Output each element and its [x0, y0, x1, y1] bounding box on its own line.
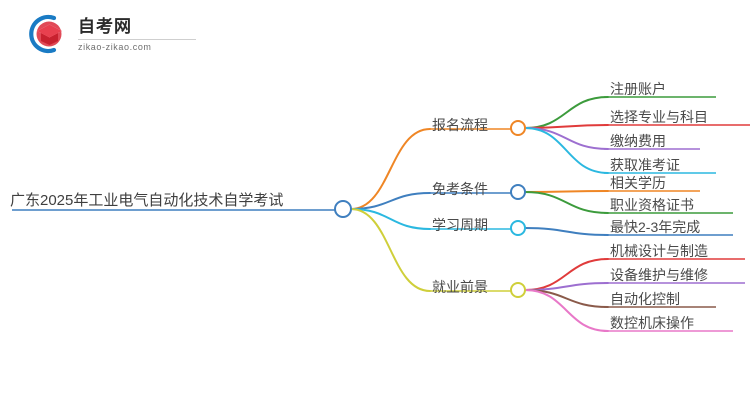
branch-label-0[interactable]: 报名流程	[432, 118, 488, 132]
edge-branch-1-leaf-1	[525, 192, 608, 213]
leaf-label-0-2[interactable]: 缴纳费用	[610, 134, 666, 148]
leaf-label-1-0[interactable]: 相关学历	[610, 176, 666, 190]
leaf-label-0-0[interactable]: 注册账户	[610, 82, 666, 96]
edge-branch-0-leaf-2	[525, 128, 608, 149]
branch-label-1[interactable]: 免考条件	[432, 182, 488, 196]
root-node-label[interactable]: 广东2025年工业电气自动化技术自学考试	[10, 193, 283, 208]
edge-branch-3-leaf-0	[525, 259, 608, 290]
leaf-label-3-2[interactable]: 自动化控制	[610, 292, 680, 306]
branch-node-2	[511, 221, 525, 235]
leaf-label-3-1[interactable]: 设备维护与维修	[610, 268, 708, 282]
leaf-label-3-3[interactable]: 数控机床操作	[610, 316, 694, 330]
edge-branch-3-leaf-2	[525, 290, 608, 307]
edge-branch-0-leaf-3	[525, 128, 608, 173]
branch-node-3	[511, 283, 525, 297]
branch-label-2[interactable]: 学习周期	[432, 218, 488, 232]
edge-branch-3-leaf-1	[525, 283, 608, 290]
branch-node-0	[511, 121, 525, 135]
root-node	[335, 201, 351, 217]
leaf-label-0-3[interactable]: 获取准考证	[610, 158, 680, 172]
edge-root-to-branch-3	[351, 209, 430, 291]
edge-branch-2-leaf-0	[525, 228, 608, 235]
edge-branch-3-leaf-3	[525, 290, 608, 331]
leaf-label-1-1[interactable]: 职业资格证书	[610, 198, 694, 212]
leaf-label-0-1[interactable]: 选择专业与科目	[610, 110, 708, 124]
leaf-label-2-0[interactable]: 最快2-3年完成	[610, 220, 700, 234]
edge-branch-0-leaf-0	[525, 97, 608, 128]
leaf-label-3-0[interactable]: 机械设计与制造	[610, 244, 708, 258]
mindmap-page: 自考网 zikao-zikao.com 广东2025年工业电气自动化技术自学考试…	[0, 0, 750, 410]
branch-label-3[interactable]: 就业前景	[432, 280, 488, 294]
edge-root-to-branch-0	[351, 129, 430, 209]
branch-node-1	[511, 185, 525, 199]
